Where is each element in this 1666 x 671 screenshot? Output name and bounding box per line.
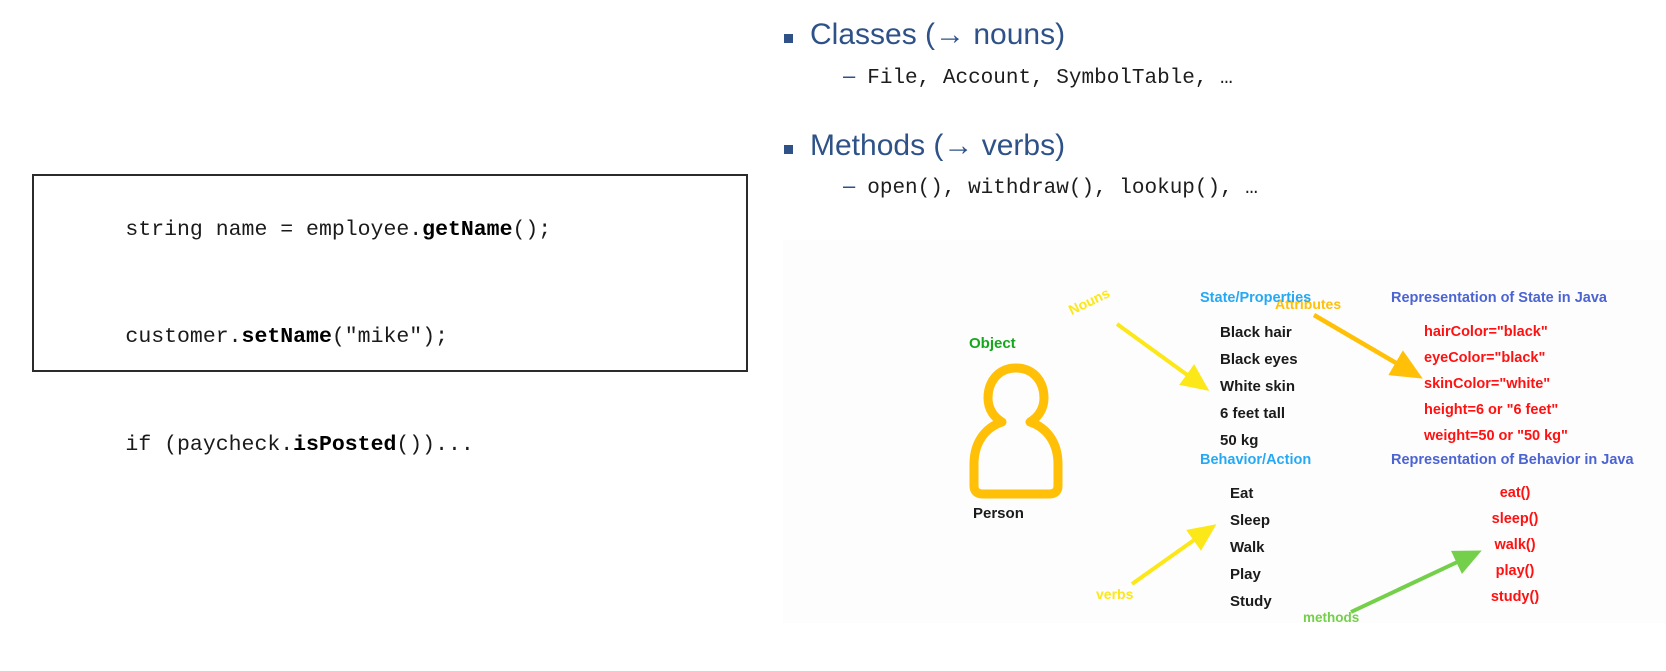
attributes-arrow [1314, 315, 1408, 370]
square-bullet-icon [784, 145, 793, 154]
bullet-subitem-classes: – File, Account, SymbolTable, … [843, 65, 1666, 91]
object-concept-diagram: Object Person Nouns verbs Attributes met… [783, 240, 1666, 623]
bullet-item-classes: Classes (→ nouns) [760, 18, 1666, 53]
state-item: 50 kg [1220, 432, 1298, 449]
dash-bullet-icon: – [843, 65, 855, 87]
state-java-item: skinColor="white" [1424, 376, 1568, 392]
code-line: customer.setName("mike"); [48, 306, 746, 371]
bullet-title: Classes (→ nouns) [810, 18, 1065, 53]
behavior-item: Study [1230, 593, 1272, 610]
code-line-method: isPosted [293, 433, 396, 457]
code-line-post: ())... [396, 433, 473, 457]
code-line: if (paycheck.isPosted())... [48, 413, 746, 478]
person-icon [966, 360, 1066, 500]
behavior-item: Play [1230, 566, 1272, 583]
behavior-item: Eat [1230, 485, 1272, 502]
code-line-method: setName [242, 325, 332, 349]
code-line-pre: string name = employee. [125, 218, 422, 242]
nouns-arrow [1117, 324, 1197, 382]
bullet-subtitle: open(), withdraw(), lookup(), … [867, 177, 1258, 201]
code-example-box: string name = employee.getName(); custom… [32, 174, 748, 372]
verbs-arrow [1132, 533, 1204, 584]
behavior-item: Walk [1230, 539, 1272, 556]
code-line-post: (); [513, 218, 552, 242]
nouns-annotation: Nouns [1066, 285, 1112, 318]
state-java-header: Representation of State in Java [1391, 290, 1607, 306]
verbs-annotation: verbs [1096, 586, 1133, 602]
object-label: Object [969, 335, 1016, 352]
behavior-java-item: study() [1480, 589, 1550, 605]
behavior-java-item: play() [1480, 563, 1550, 579]
code-line-pre: if (paycheck. [125, 433, 293, 457]
bullet-subitem-methods: – open(), withdraw(), lookup(), … [843, 175, 1666, 201]
behavior-items-column: Eat Sleep Walk Play Study [1230, 485, 1272, 620]
dash-bullet-icon: – [843, 175, 855, 197]
methods-annotation: methods [1303, 610, 1359, 623]
methods-arrow [1351, 557, 1468, 612]
code-line-post: ("mike"); [332, 325, 448, 349]
square-bullet-icon [784, 34, 793, 43]
state-java-item: hairColor="black" [1424, 324, 1568, 340]
state-java-column: hairColor="black" eyeColor="black" skinC… [1424, 324, 1568, 454]
code-line-pre: customer. [125, 325, 241, 349]
state-java-item: weight=50 or "50 kg" [1424, 428, 1568, 444]
state-item: White skin [1220, 378, 1298, 395]
bullet-subtitle: File, Account, SymbolTable, … [867, 67, 1232, 91]
state-header: State/Properties [1200, 290, 1311, 306]
bullet-title: Methods (→ verbs) [810, 129, 1065, 164]
state-item: 6 feet tall [1220, 405, 1298, 422]
behavior-java-column: eat() sleep() walk() play() study() [1480, 485, 1550, 615]
behavior-java-item: walk() [1480, 537, 1550, 553]
state-item: Black eyes [1220, 351, 1298, 368]
state-java-item: height=6 or "6 feet" [1424, 402, 1568, 418]
code-line-method: getName [422, 218, 512, 242]
code-line: string name = employee.getName(); [48, 198, 746, 263]
behavior-java-item: sleep() [1480, 511, 1550, 527]
behavior-java-item: eat() [1480, 485, 1550, 501]
state-items-column: Black hair Black eyes White skin 6 feet … [1220, 324, 1298, 459]
bullet-item-methods: Methods (→ verbs) [760, 129, 1666, 164]
slide-canvas: string name = employee.getName(); custom… [0, 0, 1666, 671]
behavior-item: Sleep [1230, 512, 1272, 529]
behavior-java-header: Representation of Behavior in Java [1391, 452, 1634, 468]
state-item: Black hair [1220, 324, 1298, 341]
state-java-item: eyeColor="black" [1424, 350, 1568, 366]
person-label: Person [973, 505, 1024, 522]
bullet-list: Classes (→ nouns) – File, Account, Symbo… [760, 0, 1666, 201]
